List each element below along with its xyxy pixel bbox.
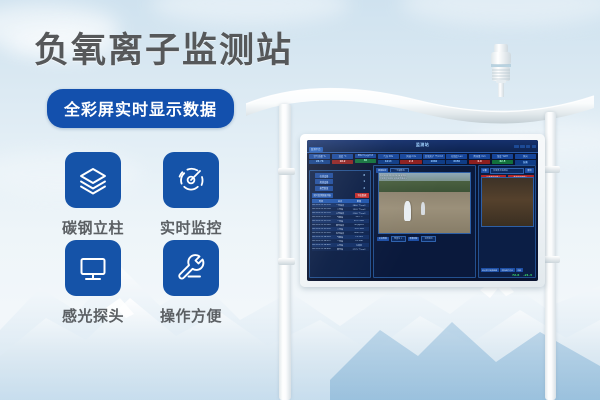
left-data-panel: 在线设备 8 离线设备 1 报警数量 2 实时监测数据列表 — [309, 170, 371, 278]
metric-tile[interactable]: 气压 hPa 1013 — [378, 154, 399, 166]
table-row[interactable]: 2023-03-12 08:48:17 三号站 东南风 — [312, 243, 369, 247]
cell-site: 一号站点 — [331, 204, 350, 207]
table-row[interactable]: 2023-03-12 09:10:27 一号站 62.5 %RH — [312, 219, 369, 223]
cell-value: 0.0 mm — [350, 240, 369, 243]
cell-time: 2023-03-12 08:44:05 — [312, 248, 331, 251]
table-row[interactable]: 2023-03-12 08:44:05 四号站 2775 个/cm3 — [312, 247, 369, 251]
stat-key: 在线设备 — [315, 173, 333, 178]
video-controls: 云台控制 预置位 1 录像回放 全屏显示 — [377, 236, 472, 242]
live-video-feed[interactable]: 2023-03-12 09:20:36 星期日 负氧离子监测站 前场高清摄像头 — [378, 172, 471, 234]
cell-value: 8650 Lux — [350, 232, 369, 235]
toolbar-icon[interactable] — [526, 145, 531, 148]
metric-tile[interactable]: 空气质量 % 28.76 — [309, 154, 330, 166]
promo-banner: 负氧离子监测站 全彩屏实时显示数据 碳钢立柱 — [0, 0, 600, 400]
cell-site: 一号站 — [331, 240, 350, 243]
device-select[interactable]: 负氧离子监测站 — [490, 168, 524, 174]
cell-time: 2023-03-12 09:20:11 — [312, 204, 331, 207]
post-bracket — [278, 258, 295, 265]
table-row[interactable]: 2023-03-12 08:52:30 一号站 0.0 mm — [312, 239, 369, 243]
cell-value: 东南风 — [350, 244, 369, 247]
dashboard-logo: 监测平台 — [309, 147, 323, 152]
metric-tile[interactable]: 降雨量 mm 0.0 — [469, 154, 490, 166]
metric-key: PM2.5 μg/m3 — [355, 154, 376, 158]
table-title: 实时监测数据列表 — [312, 193, 334, 198]
post-bracket — [278, 168, 295, 175]
post-bracket — [543, 166, 560, 173]
metric-key: 负氧离子 个/cm3 — [423, 154, 444, 159]
column-header: 时间 — [312, 199, 331, 203]
metric-value: 28.76 — [309, 160, 330, 164]
query-button[interactable]: 查询 — [525, 168, 533, 172]
cell-value: 18.2 ℃ — [350, 216, 369, 219]
table-row[interactable]: 2023-03-12 09:00:02 五号站点 8650 Lux — [312, 231, 369, 235]
cell-value: 1920 个/cm3 — [350, 208, 369, 211]
table-body: 2023-03-12 09:20:11 一号站点 2860 个/cm3 2023… — [312, 203, 369, 251]
column-header: 数值 — [350, 199, 369, 203]
metric-value: 2860 — [423, 160, 444, 164]
cell-time: 2023-03-12 08:56:44 — [312, 236, 331, 239]
cell-value: 2140 个/cm3 — [350, 212, 369, 215]
cell-time: 2023-03-12 09:00:02 — [312, 232, 331, 235]
right-panel-header: 设备 负氧离子监测站 查询 — [479, 166, 535, 174]
cell-value: 36 μg/m3 — [350, 224, 369, 227]
stat-row: 离线设备 1 — [315, 179, 365, 184]
ptz-tab[interactable]: 云台控制 — [377, 237, 389, 241]
device-label: 设备 — [481, 168, 489, 172]
playback-tab[interactable]: 录像回放 — [408, 237, 420, 241]
cell-site: 五号站点 — [331, 232, 350, 235]
stat-value: 8 — [363, 174, 365, 177]
cell-time: 2023-03-12 09:18:42 — [312, 208, 331, 211]
toolbar-icon[interactable] — [532, 145, 537, 148]
video-panel: 视频监控 一号摄像机 2023-03-12 09:20:36 星期日 负氧离子监… — [373, 165, 476, 278]
metric-key: 湿度 %RH — [492, 154, 513, 159]
video-person — [421, 202, 426, 215]
stat-value: 2 — [363, 187, 365, 190]
export-button[interactable]: 导出数据 — [355, 193, 368, 198]
cell-time: 2023-03-12 08:52:30 — [312, 240, 331, 243]
dashboard-toolbar[interactable] — [514, 145, 536, 148]
cell-value: 1013 hPa — [350, 228, 369, 231]
cell-time: 2023-03-12 09:15:06 — [312, 212, 331, 215]
cell-site: 一号站 — [331, 220, 350, 223]
metric-key: 降雨量 mm — [469, 154, 490, 159]
metric-key: 风向 — [515, 154, 536, 159]
right-panel: 设备 负氧离子监测站 查询 设备离线报警 1 数据超限预警 1 站点实时视频图像… — [478, 165, 536, 278]
dashboard-title: 监测站 — [307, 142, 538, 148]
cell-site: 二号站 — [331, 208, 350, 211]
metric-tile[interactable]: 风向 东南 — [515, 154, 536, 166]
metric-tile[interactable]: 负氧离子 个/cm3 2860 — [423, 154, 444, 166]
right-panel-footer: 站点实时视频图像 抓拍图片对比 刷新 — [481, 268, 534, 272]
column-header: 站点 — [331, 199, 350, 203]
cell-time: 2023-03-12 09:06:55 — [312, 224, 331, 227]
table-header-bar: 实时监测数据列表 导出数据 — [312, 193, 369, 198]
table-row[interactable]: 2023-03-12 09:20:11 一号站点 2860 个/cm3 — [312, 203, 369, 207]
cell-value: 2.4 m/s — [350, 236, 369, 239]
metric-key: 风速 m/s — [400, 154, 421, 159]
footer-chip[interactable]: 抓拍图片对比 — [500, 268, 514, 272]
table-row[interactable]: 2023-03-12 08:56:44 气象站 2.4 m/s — [312, 235, 369, 239]
table-row[interactable]: 2023-03-12 09:06:55 四号站点 36 μg/m3 — [312, 223, 369, 227]
readout-value: -21.3 — [523, 273, 532, 277]
table-row[interactable]: 2023-03-12 09:15:06 三号站点 2140 个/cm3 — [312, 211, 369, 215]
support-post-left — [279, 104, 291, 400]
metric-tile[interactable]: 光照度 Lux 8650 — [446, 154, 467, 166]
table-row[interactable]: 2023-03-12 09:12:33 气象站 18.2 ℃ — [312, 215, 369, 219]
metric-value: 62.5 — [492, 160, 513, 164]
metric-value: 8650 — [446, 160, 467, 164]
metric-value: 0.0 — [469, 160, 490, 164]
metric-tile[interactable]: PM2.5 μg/m3 36 — [355, 154, 376, 166]
cell-site: 四号站 — [331, 248, 350, 251]
footer-chip[interactable]: 站点实时视频图像 — [481, 268, 499, 272]
metric-value: 2.4 — [400, 160, 421, 164]
cell-time: 2023-03-12 08:48:17 — [312, 244, 331, 247]
dashboard-screen[interactable]: 监测站 监测平台 空气质量 % 28.76 温度 ℃ 18. — [307, 140, 538, 281]
cell-value: 62.5 %RH — [350, 220, 369, 223]
cell-value: 2860 个/cm3 — [350, 204, 369, 207]
cell-site: 气象站 — [331, 216, 350, 219]
stat-row: 报警数量 2 — [315, 186, 365, 191]
cell-value: 2775 个/cm3 — [350, 248, 369, 251]
video-person — [404, 201, 411, 221]
video-osd-label: 负氧离子监测站 前场高清摄像头 — [380, 177, 407, 180]
numeric-readout: 72.6 -21.3 — [512, 273, 532, 277]
table-column-headers: 时间 站点 数值 — [312, 199, 369, 203]
post-bracket — [543, 256, 560, 263]
snapshot-image[interactable] — [481, 177, 534, 227]
metric-key: 温度 ℃ — [332, 154, 353, 159]
cell-time: 2023-03-12 09:10:27 — [312, 220, 331, 223]
refresh-button[interactable]: 刷新 — [516, 268, 523, 272]
stat-list: 在线设备 8 离线设备 1 报警数量 2 — [310, 171, 370, 191]
cell-time: 2023-03-12 09:12:33 — [312, 216, 331, 219]
metric-tile[interactable]: 湿度 %RH 62.5 — [492, 154, 513, 166]
preset-select[interactable]: 预置位 1 — [391, 236, 406, 242]
metric-key: 光照度 Lux — [446, 154, 467, 159]
readout-value: 72.6 — [512, 273, 519, 277]
table-row[interactable]: 2023-03-12 09:18:42 二号站 1920 个/cm3 — [312, 207, 369, 211]
cell-time: 2023-03-12 09:03:18 — [312, 228, 331, 231]
metric-strip: 空气质量 % 28.76 温度 ℃ 18.2 PM2.5 μg/m3 36 气压… — [309, 154, 536, 166]
table-row[interactable]: 2023-03-12 09:03:18 二号站 1013 hPa — [312, 227, 369, 231]
cell-site: 气象站 — [331, 236, 350, 239]
cell-site: 三号站 — [331, 244, 350, 247]
stat-key: 离线设备 — [315, 179, 333, 184]
metric-key: 空气质量 % — [309, 154, 330, 159]
weather-sensor-icon — [481, 42, 521, 104]
metric-key: 气压 hPa — [378, 154, 399, 159]
metric-tile[interactable]: 温度 ℃ 18.2 — [332, 154, 353, 166]
toolbar-icon[interactable] — [520, 145, 525, 148]
metric-value: 36 — [355, 159, 376, 163]
stat-key: 报警数量 — [315, 186, 333, 191]
metric-tile[interactable]: 风速 m/s 2.4 — [400, 154, 421, 166]
metric-value: 1013 — [378, 160, 399, 164]
stat-value: 1 — [363, 180, 365, 183]
display-screen-housing: 监测站 监测平台 空气质量 % 28.76 温度 ℃ 18. — [300, 134, 545, 287]
fullscreen-select[interactable]: 全屏显示 — [421, 236, 436, 242]
cell-site: 二号站 — [331, 228, 350, 231]
cell-site: 四号站点 — [331, 224, 350, 227]
toolbar-icon[interactable] — [514, 145, 519, 148]
metric-value: 18.2 — [332, 160, 353, 164]
cell-site: 三号站点 — [331, 212, 350, 215]
stat-row: 在线设备 8 — [315, 173, 365, 178]
monitoring-station: 监测站 监测平台 空气质量 % 28.76 温度 ℃ 18. — [0, 0, 600, 400]
